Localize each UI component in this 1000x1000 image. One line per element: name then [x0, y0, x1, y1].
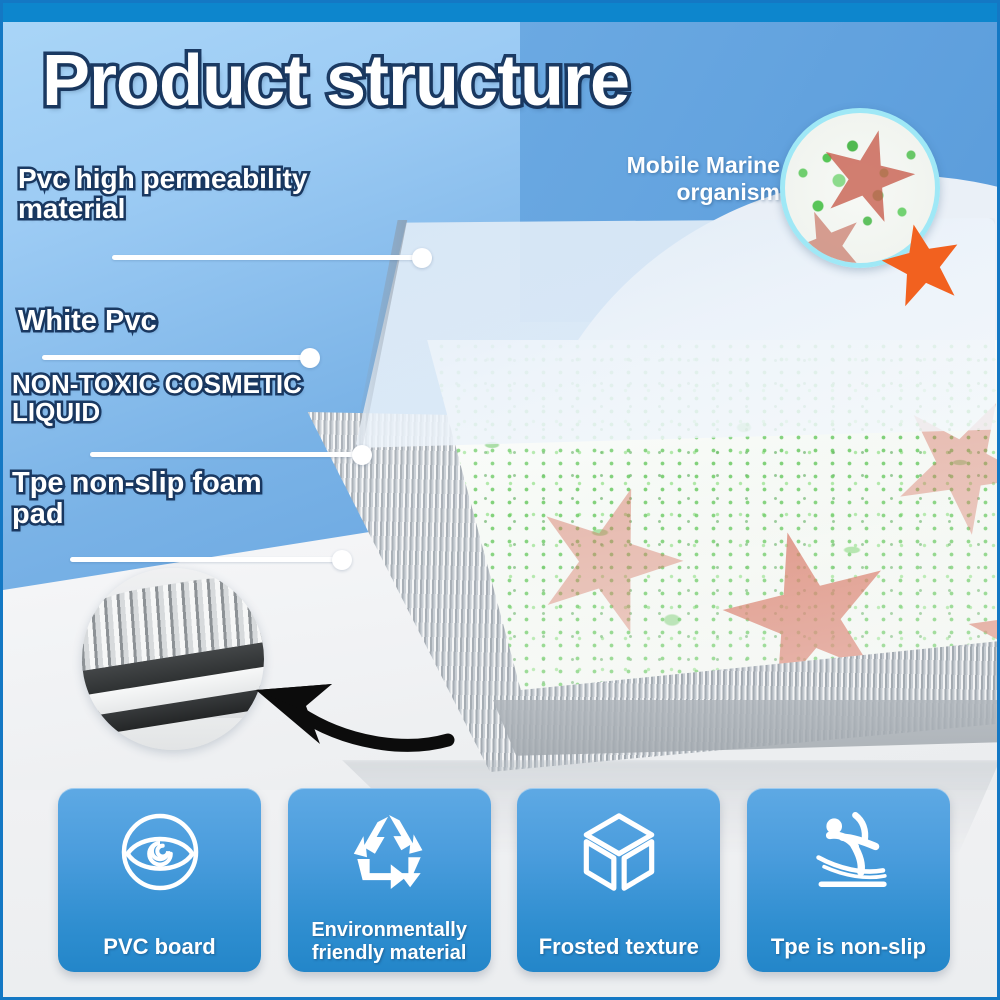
connector-dot-4 [332, 550, 352, 570]
callout-label-tpe-foam: Tpe non-slip foam pad [12, 468, 312, 531]
connector-line-3 [90, 452, 362, 457]
recycle-icon [341, 804, 437, 900]
feature-label-eco-material: Environmentally friendly material [288, 919, 491, 964]
connector-line-1 [112, 255, 432, 260]
feature-box-frosted-texture[interactable]: Frosted texture [517, 788, 720, 972]
feature-box-non-slip[interactable]: Tpe is non-slip [747, 788, 950, 972]
page-title: Product structure [42, 40, 629, 122]
callout-label-white-pvc: White Pvc [18, 306, 157, 337]
connector-dot-3 [352, 445, 372, 465]
feature-box-pvc-board[interactable]: PVC board [58, 788, 261, 972]
feature-box-row: PVC board Environmentally friendly mater… [58, 788, 950, 972]
feature-label-pvc-board: PVC board [58, 935, 261, 960]
connector-line-2 [42, 355, 310, 360]
cube-icon [571, 804, 667, 900]
marine-label-line1: Mobile Marine [580, 152, 780, 179]
infographic-canvas: Product structure Pvc high permeability … [0, 0, 1000, 1000]
callout-label-non-toxic: NON-TOXIC COSMETIC LIQUID [12, 370, 392, 426]
pointer-arrow-icon [236, 648, 456, 758]
magnified-starfish-1 [809, 119, 925, 235]
marine-organism-label: Mobile Marine organism [580, 152, 780, 206]
feature-label-frosted-texture: Frosted texture [517, 935, 720, 960]
slip-warning-icon [800, 804, 896, 900]
connector-dot-2 [300, 348, 320, 368]
top-accent-bar [0, 0, 1000, 22]
callout-label-pvc-permeability: Pvc high permeability material [18, 164, 378, 224]
marine-label-line2: organism [580, 179, 780, 206]
connector-line-4 [70, 557, 342, 562]
feature-label-non-slip: Tpe is non-slip [747, 935, 950, 960]
connector-dot-1 [412, 248, 432, 268]
feature-box-eco-material[interactable]: Environmentally friendly material [288, 788, 491, 972]
eye-icon [112, 804, 208, 900]
